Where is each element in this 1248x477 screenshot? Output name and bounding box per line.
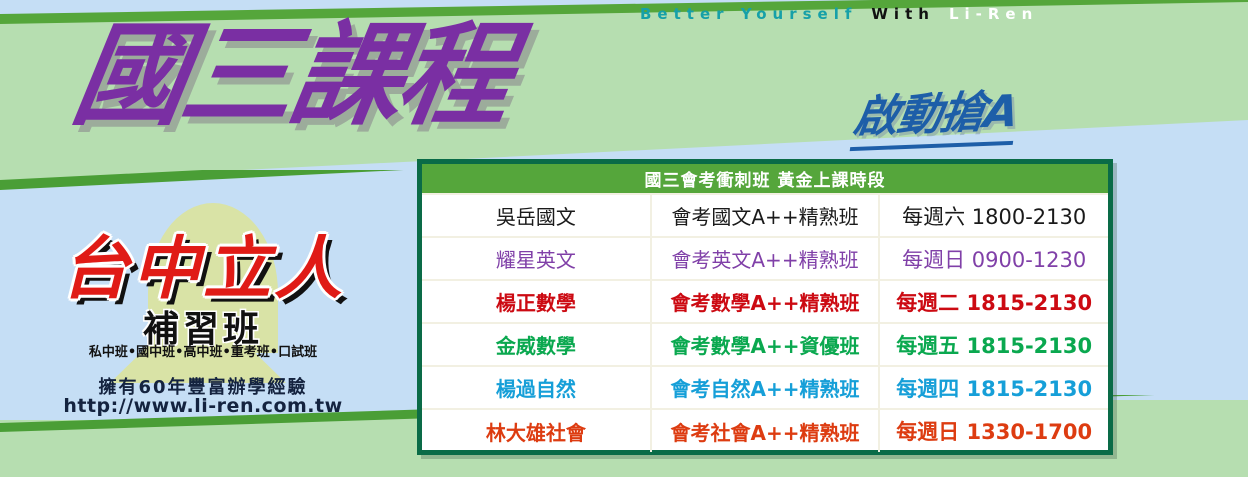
cell-time: 每週日 0900-1230 xyxy=(879,237,1108,280)
cell-time: 每週四 1815-2130 xyxy=(879,366,1108,409)
cell-teacher: 林大雄社會 xyxy=(422,409,651,452)
schedule-table: 國三會考衝刺班 黃金上課時段 吳岳國文會考國文A++精熟班每週六 1800-21… xyxy=(422,164,1108,452)
table-row: 楊正數學會考數學A++精熟班每週二 1815-2130 xyxy=(422,280,1108,323)
cell-course: 會考英文A++精熟班 xyxy=(651,237,880,280)
schedule-table-body: 吳岳國文會考國文A++精熟班每週六 1800-2130耀星英文會考英文A++精熟… xyxy=(422,194,1108,452)
logo-website-url[interactable]: http://www.li-ren.com.tw xyxy=(18,395,388,417)
cell-time: 每週日 1330-1700 xyxy=(879,409,1108,452)
cell-course: 會考社會A++精熟班 xyxy=(651,409,880,452)
cell-time: 每週五 1815-2130 xyxy=(879,323,1108,366)
tagline-part-better-yourself: Better Yourself xyxy=(640,5,857,23)
page-subtitle: 啟動搶A xyxy=(850,75,1023,151)
cell-time: 每週六 1800-2130 xyxy=(879,194,1108,237)
page-title: 國三課程 xyxy=(66,18,517,136)
table-header-row: 國三會考衝刺班 黃金上課時段 xyxy=(422,164,1108,194)
cell-teacher: 吳岳國文 xyxy=(422,194,651,237)
table-row: 耀星英文會考英文A++精熟班每週日 0900-1230 xyxy=(422,237,1108,280)
cell-course: 會考自然A++精熟班 xyxy=(651,366,880,409)
cell-teacher: 楊過自然 xyxy=(422,366,651,409)
table-row: 林大雄社會會考社會A++精熟班每週日 1330-1700 xyxy=(422,409,1108,452)
cell-course: 會考國文A++精熟班 xyxy=(651,194,880,237)
schedule-table-container: 國三會考衝刺班 黃金上課時段 吳岳國文會考國文A++精熟班每週六 1800-21… xyxy=(417,159,1113,455)
cell-course: 會考數學A++資優班 xyxy=(651,323,880,366)
schedule-table-header: 國三會考衝刺班 黃金上課時段 xyxy=(422,164,1108,194)
cell-teacher: 楊正數學 xyxy=(422,280,651,323)
cell-course: 會考數學A++精熟班 xyxy=(651,280,880,323)
table-row: 金威數學會考數學A++資優班每週五 1815-2130 xyxy=(422,323,1108,366)
tagline-part-li-ren: Li-Ren xyxy=(949,5,1038,23)
cell-time: 每週二 1815-2130 xyxy=(879,280,1108,323)
brand-logo: 台中立人 補習班 私中班•國中班•高中班•重考班•口試班 擁有60年豐富辦學經驗… xyxy=(18,205,388,420)
table-row: 楊過自然會考自然A++精熟班每週四 1815-2130 xyxy=(422,366,1108,409)
cell-teacher: 金威數學 xyxy=(422,323,651,366)
tagline-part-with: With xyxy=(871,5,935,23)
brand-tagline: Better Yourself With Li-Ren xyxy=(640,2,1248,26)
logo-brand-name: 台中立人 xyxy=(18,213,388,312)
logo-class-types: 私中班•國中班•高中班•重考班•口試班 xyxy=(18,341,388,360)
poster-canvas: Better Yourself With Li-Ren 國三課程 啟動搶A 台中… xyxy=(0,0,1248,477)
table-row: 吳岳國文會考國文A++精熟班每週六 1800-2130 xyxy=(422,194,1108,237)
cell-teacher: 耀星英文 xyxy=(422,237,651,280)
